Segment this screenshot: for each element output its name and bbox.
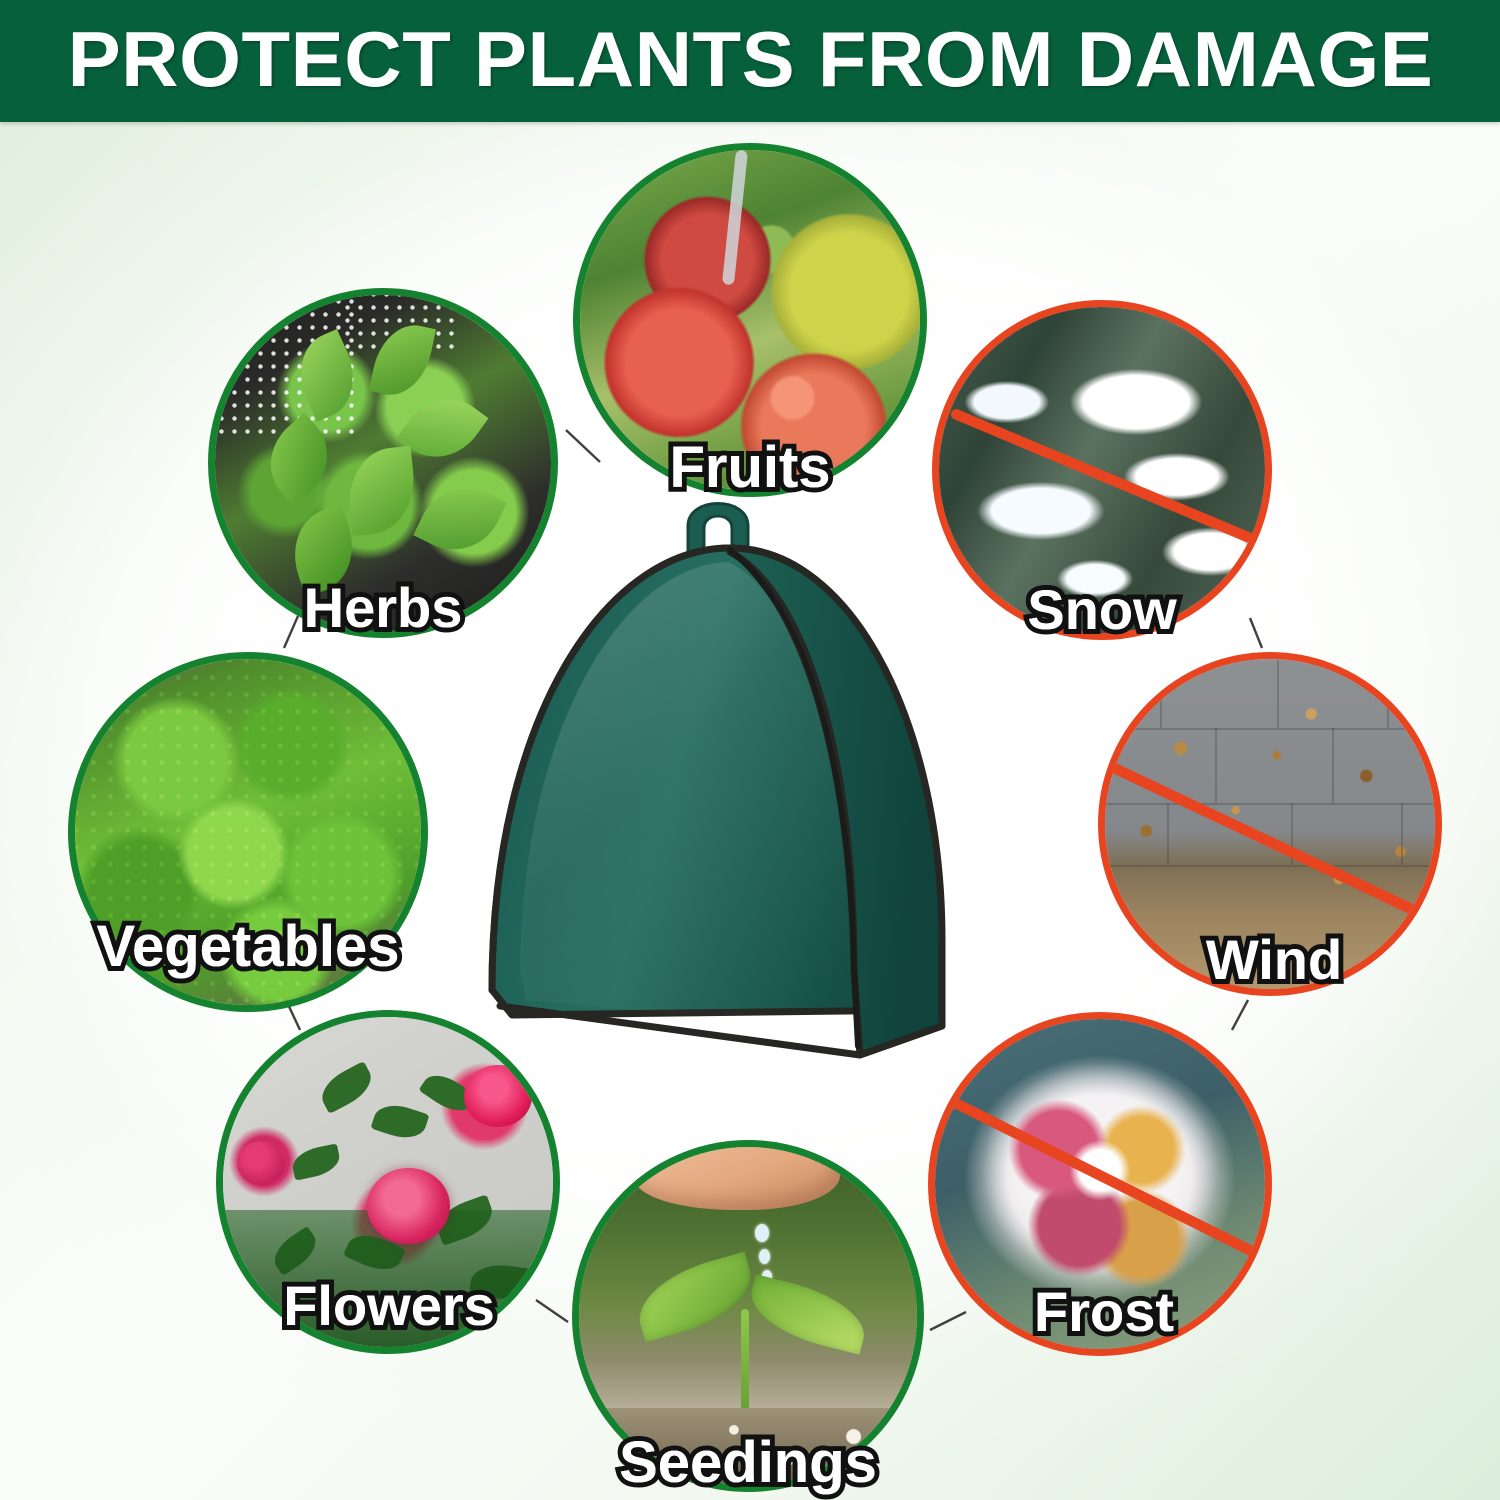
callout-seedings-label-fill: Seedings [546,1434,950,1492]
callout-vegetables-label-fill: Vegetables [8,918,488,976]
callout-herbs-label-fill: Herbs [190,580,576,636]
infographic-canvas: PROTECT PLANTS FROM DAMAGE [0,0,1500,1500]
callout-wind-label-fill: Wind [1084,932,1464,988]
callout-snow-label-fill: Snow [912,582,1292,638]
callout-frost-label-fill: Frost [914,1284,1294,1340]
callout-fruits-label-fill: Fruits [553,439,947,497]
callout-flowers-label-fill: Flowers [194,1278,584,1334]
